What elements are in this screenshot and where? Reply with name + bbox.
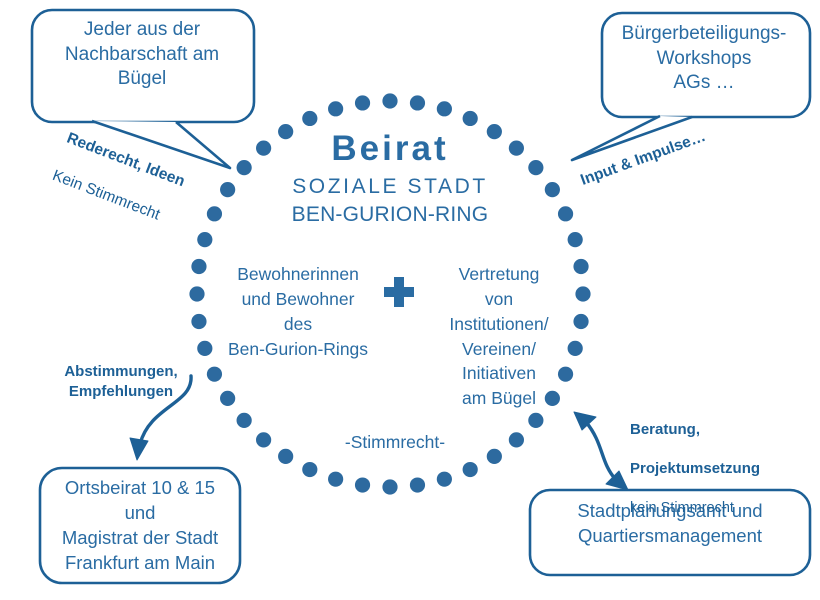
ring-dot — [573, 259, 588, 274]
ring-dot — [573, 314, 588, 329]
ring-dot — [355, 477, 370, 492]
ring-dot — [568, 232, 583, 247]
diagram-canvas: Jeder aus der Nachbarschaft am Bügel Bür… — [0, 0, 820, 600]
label-beratung-line3: kein Stimmrecht — [630, 499, 810, 518]
arrow-abstimmungen-head — [130, 438, 148, 460]
arrow-beratung-head-up — [574, 412, 596, 430]
ring-voting-note: -Stimmrecht- — [300, 432, 490, 453]
label-beratung-line1: Beratung, — [630, 420, 810, 440]
ring-dot — [382, 93, 397, 108]
label-input-impulse: Input & Impulse… — [578, 104, 773, 191]
ring-dot — [302, 111, 317, 126]
ring-dot — [189, 286, 204, 301]
ring-dot — [558, 206, 573, 221]
ring-dot — [256, 432, 271, 447]
label-beratung: Beratung, Projektumsetzung kein Stimmrec… — [630, 400, 810, 538]
arrow-beratung — [574, 412, 628, 490]
ring-dot — [437, 472, 452, 487]
speech-bubble-top-left-text: Jeder aus der Nachbarschaft am Bügel — [36, 18, 248, 92]
label-beratung-line2: Projektumsetzung — [630, 459, 810, 479]
ring-subtitle-program: SOZIALE STADT — [240, 175, 540, 200]
plus-icon — [384, 277, 414, 307]
ring-dot — [207, 367, 222, 382]
ring-dot — [463, 462, 478, 477]
ring-dot — [545, 182, 560, 197]
ring-dot — [509, 432, 524, 447]
ring-dot — [410, 95, 425, 110]
ring-dot — [328, 101, 343, 116]
ring-dot — [220, 391, 235, 406]
ring-dot — [437, 101, 452, 116]
ring-dot — [328, 472, 343, 487]
ring-subtitle-location: BEN-GURION-RING — [240, 203, 540, 228]
arrow-beratung-path — [586, 422, 616, 480]
speech-bubble-top-right-text: Bürgerbeteiligungs- Workshops AGs … — [604, 22, 804, 96]
ring-dot — [278, 449, 293, 464]
box-bottom-left-text: Ortsbeirat 10 & 15 und Magistrat der Sta… — [44, 476, 236, 576]
ring-title: Beirat — [240, 128, 540, 169]
ring-dot — [355, 95, 370, 110]
ring-dot — [463, 111, 478, 126]
ring-dot — [302, 462, 317, 477]
ring-dot — [528, 413, 543, 428]
ring-members-institutions: Vertretung von Institutionen/ Vereinen/ … — [424, 262, 574, 411]
ring-dot — [382, 479, 397, 494]
ring-dot — [197, 341, 212, 356]
label-abstimmungen: Abstimmungen, Empfehlungen — [46, 362, 196, 402]
ring-dot — [575, 286, 590, 301]
ring-dot — [410, 477, 425, 492]
ring-dot — [191, 314, 206, 329]
ring-dot — [237, 413, 252, 428]
arrow-beratung-head-down — [606, 471, 628, 490]
